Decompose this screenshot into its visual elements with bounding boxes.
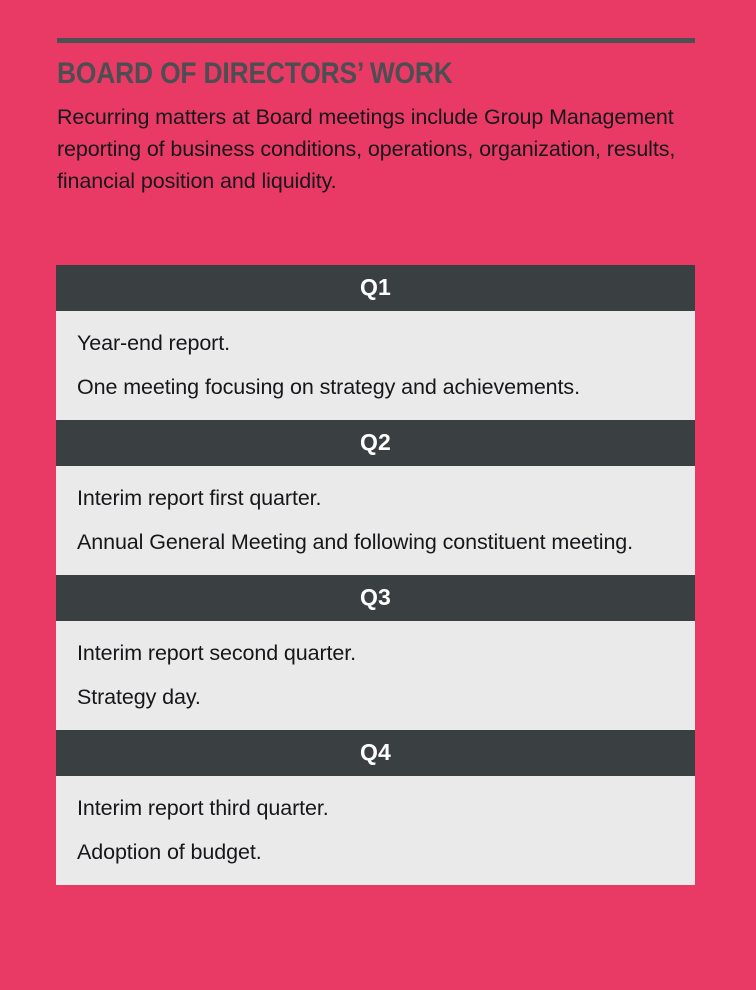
header-block: Board of Directors’ Work Recurring matte… bbox=[57, 38, 695, 197]
list-item: Year-end report. bbox=[77, 328, 671, 358]
quarter-body-q1: Year-end report. One meeting focusing on… bbox=[56, 311, 695, 420]
quarter-header-q2: Q2 bbox=[56, 420, 695, 466]
quarter-body-q2: Interim report first quarter. Annual Gen… bbox=[56, 466, 695, 575]
page-title: Board of Directors’ Work bbox=[57, 57, 618, 91]
list-item: Annual General Meeting and following con… bbox=[77, 527, 671, 557]
list-item: Interim report first quarter. bbox=[77, 483, 671, 513]
quarter-body-q3: Interim report second quarter. Strategy … bbox=[56, 621, 695, 730]
list-item: Interim report second quarter. bbox=[77, 638, 671, 668]
list-item: One meeting focusing on strategy and ach… bbox=[77, 372, 671, 402]
quarter-header-q4: Q4 bbox=[56, 730, 695, 776]
quarter-header-q3: Q3 bbox=[56, 575, 695, 621]
top-rule-divider bbox=[57, 38, 695, 43]
list-item: Strategy day. bbox=[77, 682, 671, 712]
page-root: Board of Directors’ Work Recurring matte… bbox=[0, 0, 756, 990]
quarter-body-q4: Interim report third quarter. Adoption o… bbox=[56, 776, 695, 885]
list-item: Interim report third quarter. bbox=[77, 793, 671, 823]
quarterly-schedule-card: Q1 Year-end report. One meeting focusing… bbox=[56, 265, 695, 885]
list-item: Adoption of budget. bbox=[77, 837, 671, 867]
quarter-header-q1: Q1 bbox=[56, 265, 695, 311]
intro-paragraph: Recurring matters at Board meetings incl… bbox=[57, 101, 687, 197]
